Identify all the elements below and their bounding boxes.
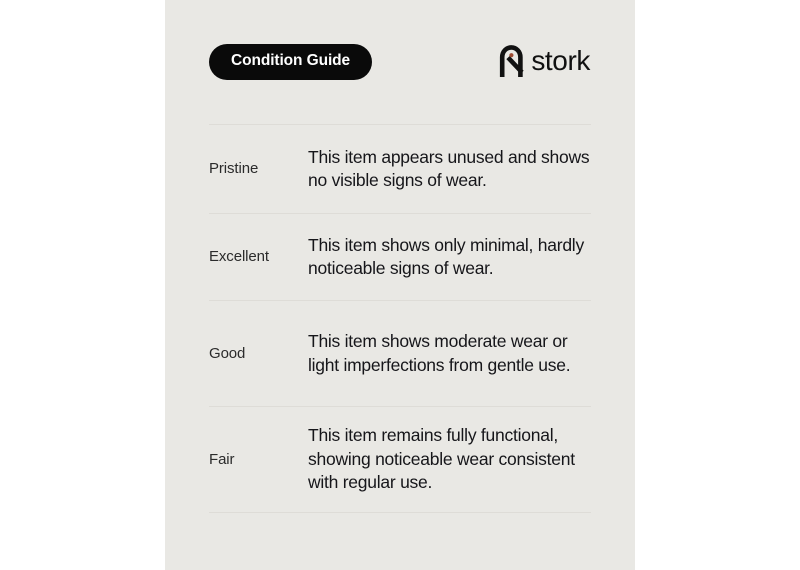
- brand-name: stork: [531, 47, 590, 75]
- table-row: Fair This item remains fully functional,…: [209, 406, 591, 513]
- condition-label: Pristine: [209, 160, 308, 178]
- brand-logo: stork: [499, 45, 590, 77]
- condition-guide-badge-label: Condition Guide: [231, 53, 350, 69]
- condition-description: This item shows only minimal, hardly not…: [308, 234, 591, 281]
- page-root: Condition Guide stork Pristine This item…: [0, 0, 800, 570]
- condition-description: This item shows moderate wear or light i…: [308, 330, 591, 377]
- condition-rows: Pristine This item appears unused and sh…: [209, 124, 591, 513]
- condition-label: Excellent: [209, 248, 308, 266]
- table-row: Good This item shows moderate wear or li…: [209, 300, 591, 406]
- condition-label: Good: [209, 345, 308, 363]
- condition-guide-badge: Condition Guide: [209, 44, 372, 80]
- condition-description: This item remains fully functional, show…: [308, 424, 591, 494]
- table-row: Excellent This item shows only minimal, …: [209, 213, 591, 300]
- condition-label: Fair: [209, 451, 308, 469]
- card-header: Condition Guide stork: [209, 0, 591, 124]
- stork-arch-icon: [499, 45, 524, 77]
- table-row: Pristine This item appears unused and sh…: [209, 124, 591, 213]
- condition-description: This item appears unused and shows no vi…: [308, 146, 591, 193]
- condition-guide-card: Condition Guide stork Pristine This item…: [165, 0, 635, 570]
